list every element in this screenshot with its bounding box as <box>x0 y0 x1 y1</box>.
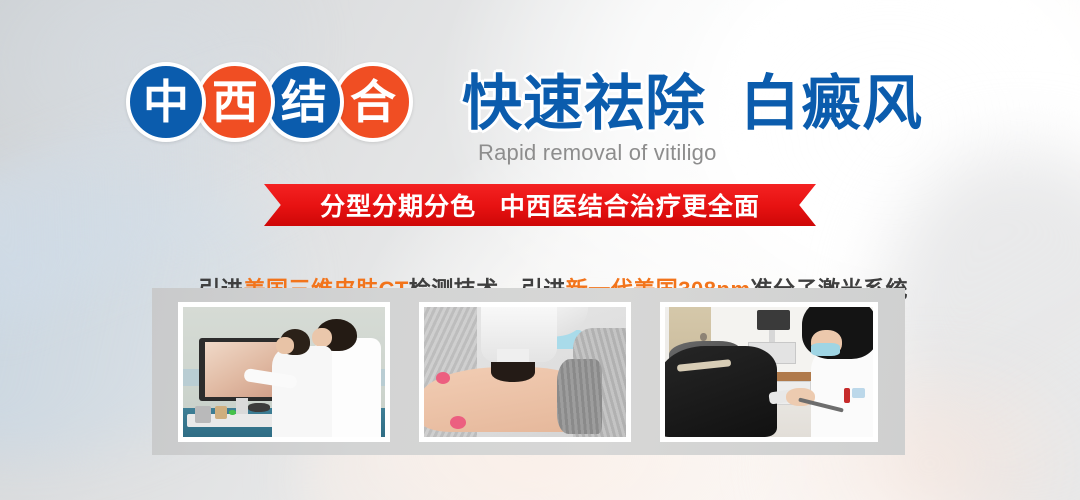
emblem-circle-1: 中 <box>126 62 206 142</box>
gallery-photo-1-image <box>183 307 385 437</box>
emblem-circle-1-char: 中 <box>143 79 189 125</box>
emblem-circles: 中 西 结 合 <box>126 62 413 142</box>
gallery-photo-1 <box>178 302 390 442</box>
gallery-photo-3 <box>660 302 878 442</box>
ribbon-text: 分型分期分色 中西医结合治疗更全面 <box>264 184 816 226</box>
emblem-circle-2-char: 西 <box>212 79 258 125</box>
headline-part-2: 白癜风 <box>740 74 923 134</box>
emblem-circle-3: 结 <box>264 62 344 142</box>
gallery-photo-2-image <box>424 307 626 437</box>
ribbon-banner: 分型分期分色 中西医结合治疗更全面 <box>264 184 816 226</box>
emblem-circle-3-char: 结 <box>281 79 327 125</box>
emblem-circle-4: 合 <box>333 62 413 142</box>
gallery-photo-2 <box>419 302 631 442</box>
gallery-photo-3-image <box>665 307 873 437</box>
photo-gallery-band <box>152 288 905 455</box>
emblem-circle-4-char: 合 <box>350 79 396 125</box>
headline-subtitle-english: Rapid removal of vitiligo <box>478 140 717 166</box>
vitiligo-treatment-banner: 中 西 结 合 快速祛除 白癜风 Rapid removal of vitili… <box>0 0 1080 500</box>
emblem-circle-2: 西 <box>195 62 275 142</box>
headline-part-1: 快速祛除 <box>462 74 706 134</box>
headline: 快速祛除 白癜风 <box>462 74 923 134</box>
